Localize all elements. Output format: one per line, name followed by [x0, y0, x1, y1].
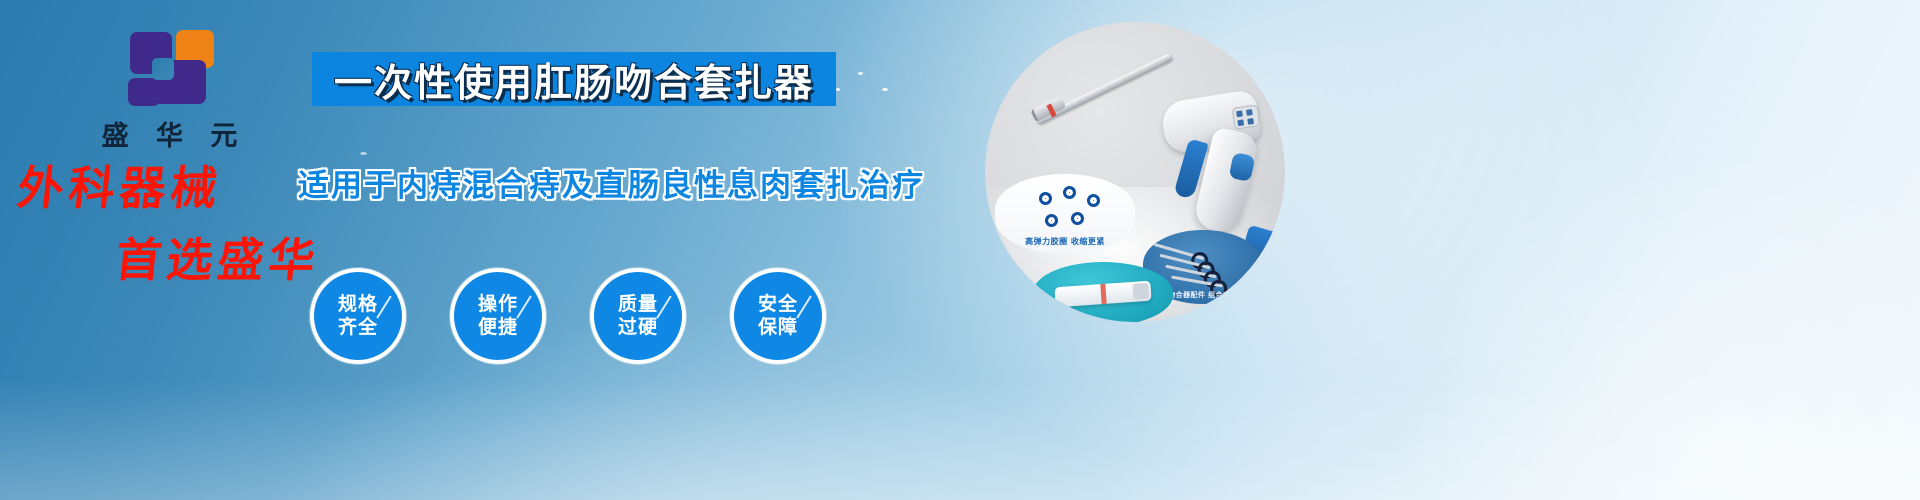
background-glow-right — [1380, 140, 1920, 500]
sparkle-icon — [858, 72, 863, 75]
elastic-ring-icon — [1087, 194, 1100, 207]
feature-badge-operation[interactable]: 操作 便捷 — [450, 268, 546, 364]
elastic-ring-icon — [1045, 214, 1058, 227]
elastic-ring-icon — [1071, 212, 1084, 225]
feature-badge-quality[interactable]: 质量 过硬 — [590, 268, 686, 364]
feature-badge-line-1: 质量 — [618, 293, 658, 316]
device-side-button — [1229, 152, 1256, 182]
logo-block-purple-bottom — [128, 78, 160, 106]
device-button-pad — [1232, 104, 1261, 129]
sparkle-icon — [546, 62, 550, 66]
inset-teal-device — [1033, 262, 1173, 322]
inset-elastic-rings: 高弹力胶圈 收缩更紧 — [995, 174, 1135, 254]
feature-badge-safety[interactable]: 安全 保障 — [730, 268, 826, 364]
sparkle-icon — [836, 88, 840, 91]
feature-badge-line-2: 保障 — [758, 316, 798, 339]
brand-logo[interactable]: 盛 华 元 — [62, 26, 277, 153]
feature-badge-specifications[interactable]: 规格 齐全 — [310, 268, 406, 364]
sparkle-icon — [360, 152, 367, 155]
inset-rings-caption: 高弹力胶圈 收缩更紧 — [995, 236, 1135, 247]
brand-name: 盛 华 元 — [62, 114, 277, 153]
teal-device-icon — [1054, 281, 1151, 308]
logo-notch — [152, 58, 174, 80]
slash-decoration-icon — [656, 295, 671, 318]
feature-badge-line-1: 安全 — [758, 293, 798, 316]
bottom-fade-overlay — [0, 380, 1920, 500]
pad-dot-icon — [1247, 118, 1254, 125]
logo-blocks-icon — [124, 26, 216, 108]
feature-badge-line-2: 便捷 — [478, 316, 518, 339]
slash-decoration-icon — [516, 295, 531, 318]
subtitle-text: 适用于内痔混合痔及直肠良性息肉套扎治疗 — [298, 160, 925, 205]
elastic-ring-icon — [1039, 192, 1052, 205]
feature-badge-list: 规格 齐全 操作 便捷 质量 过硬 安全 保障 — [310, 268, 826, 364]
pad-dot-icon — [1237, 119, 1244, 126]
headline-banner: 一次性使用肛肠吻合套扎器 — [312, 52, 836, 106]
feature-badge-line-2: 齐全 — [338, 316, 378, 339]
feature-badge-line-2: 过硬 — [618, 316, 658, 339]
slash-decoration-icon — [376, 295, 391, 318]
pad-dot-icon — [1246, 109, 1253, 116]
calligraphy-line-2: 首选盛华 — [15, 224, 352, 290]
headline-text: 一次性使用肛肠吻合套扎器 — [334, 52, 814, 107]
product-photo: 高弹力胶圈 收缩更紧 吻合器配件 组合套装 — [985, 22, 1285, 322]
slash-decoration-icon — [796, 295, 811, 318]
pad-dot-icon — [1236, 110, 1243, 117]
elastic-ring-icon — [1063, 186, 1076, 199]
feature-badge-line-1: 操作 — [478, 293, 518, 316]
feature-badge-line-1: 规格 — [338, 293, 378, 316]
sparkle-icon — [882, 88, 888, 91]
